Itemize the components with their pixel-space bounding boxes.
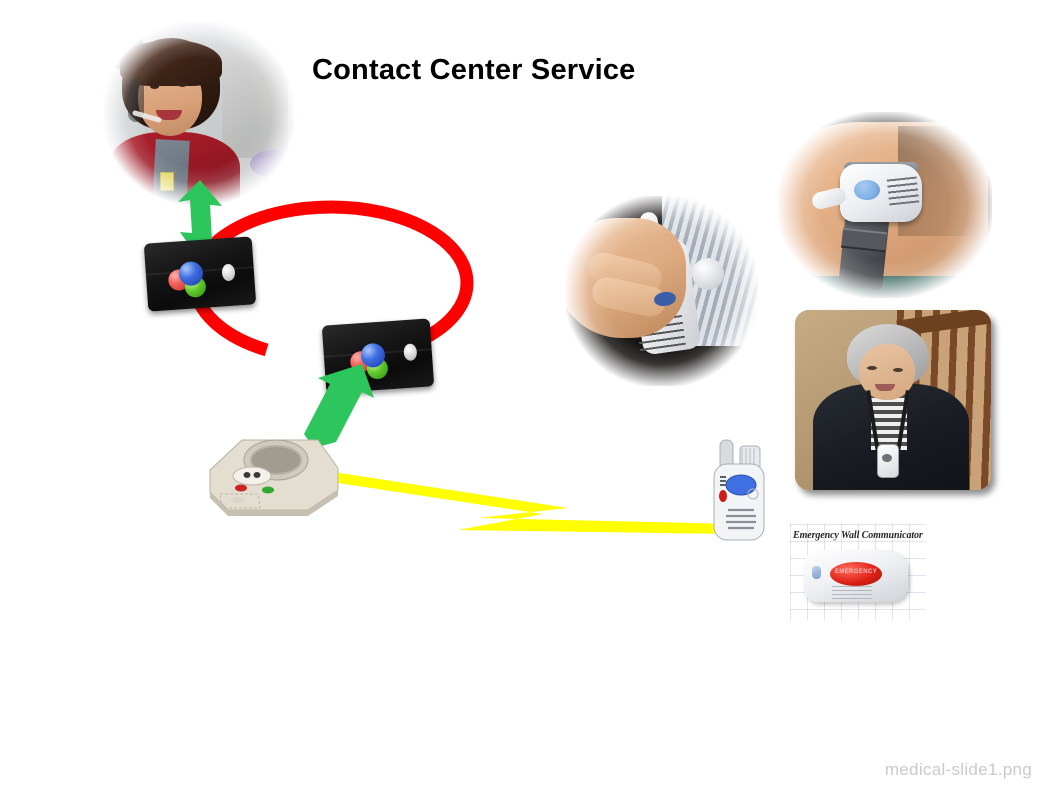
operator-eye-left: [150, 84, 159, 89]
worn-pendant-button: [882, 454, 892, 462]
page-title: Contact Center Service: [312, 54, 636, 87]
yellow-bolt-shape: [318, 470, 736, 534]
pendant-cap: [692, 258, 724, 290]
gateway-device-1[interactable]: [144, 236, 256, 311]
wall-communicator-side-button[interactable]: [812, 566, 821, 579]
table-surface: [778, 276, 992, 298]
status-led-icon: [403, 343, 417, 361]
wall-communicator-speaker-grille-icon: [832, 586, 872, 599]
yellow-wireless-signal-bolt: [318, 452, 738, 540]
status-led-icon: [221, 264, 235, 282]
emergency-button-label: EMERGENCY: [830, 569, 882, 575]
call-button[interactable]: [233, 467, 271, 485]
base-station-console[interactable]: [198, 418, 346, 520]
elderly-user-photo: [795, 310, 991, 490]
pendant-device[interactable]: [706, 438, 770, 546]
slide-canvas: Contact Center Service: [0, 0, 1058, 794]
operator-desk-blur: [250, 150, 294, 178]
pendant-alert-button[interactable]: [719, 490, 727, 502]
call-center-operator-photo: [104, 22, 294, 204]
filename-watermark: medical-slide1.png: [885, 760, 1032, 780]
eye-left: [867, 366, 877, 370]
wrist-communicator-photo: [778, 112, 992, 298]
pendant-help-button[interactable]: [726, 475, 756, 495]
hand-holding-pendant-photo: [566, 196, 758, 386]
base-station-body: [210, 440, 338, 516]
green-indicator-button[interactable]: [262, 487, 274, 494]
operator-eye-right: [178, 82, 187, 87]
red-indicator-button[interactable]: [235, 485, 247, 492]
wrist-help-button: [854, 180, 880, 200]
eye-right: [893, 368, 903, 372]
operator-monitor: [222, 48, 288, 158]
wall-communicator-title: Emergency Wall Communicator: [793, 530, 923, 541]
wrist-speaker-grille-icon: [887, 177, 920, 206]
